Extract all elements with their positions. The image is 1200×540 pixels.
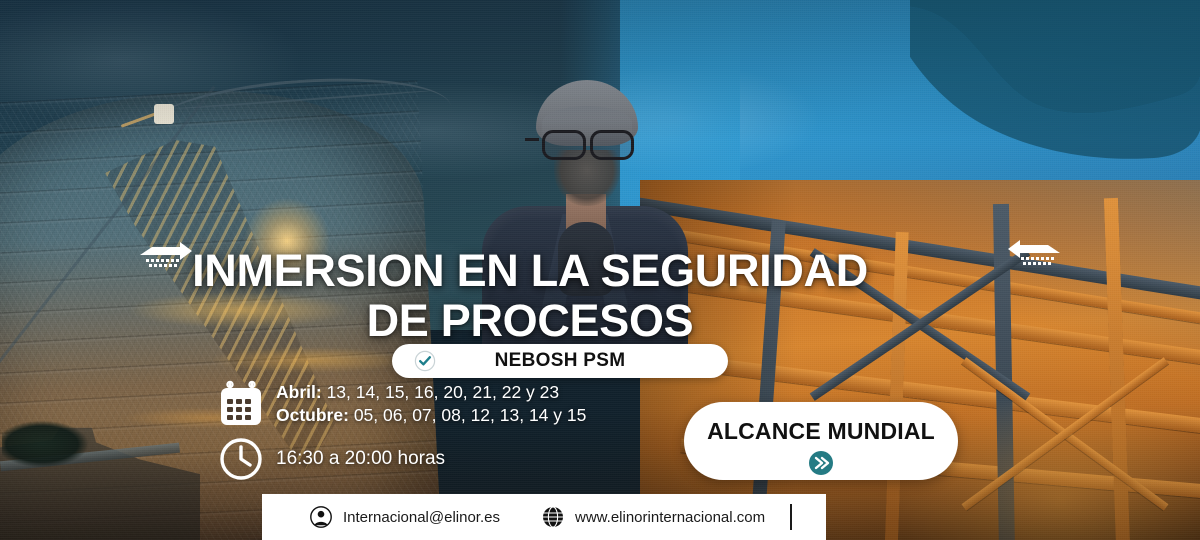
scope-badge[interactable]: ALCANCE MUNDIAL	[684, 402, 958, 480]
scope-badge-label: ALCANCE MUNDIAL	[684, 418, 958, 445]
days-april: 13, 14, 15, 16, 20, 21, 22 y 23	[327, 382, 560, 402]
contact-website-text: www.elinorinternacional.com	[575, 509, 765, 526]
schedule-block: Abril: 13, 14, 15, 16, 20, 21, 22 y 23 O…	[218, 380, 586, 490]
headline-line-2: DE PROCESOS	[180, 296, 880, 346]
double-chevron-right-icon	[808, 450, 834, 476]
contact-email-text: Internacional@elinor.es	[343, 509, 500, 526]
person-icon	[310, 506, 332, 528]
calendar-icon	[218, 380, 264, 428]
banner-content: INMERSION EN LA SEGURIDAD DE PROCESOS NE…	[0, 0, 1200, 540]
check-circle-icon	[414, 350, 436, 372]
dates-line-april: Abril: 13, 14, 15, 16, 20, 21, 22 y 23	[276, 381, 586, 404]
headline-line-1: INMERSION EN LA SEGURIDAD	[192, 245, 868, 296]
days-october: 05, 06, 07, 08, 12, 13, 14 y 15	[354, 405, 587, 425]
dates-text: Abril: 13, 14, 15, 16, 20, 21, 22 y 23 O…	[276, 381, 586, 427]
contact-bar: Internacional@elinor.es www.elinorinte	[262, 494, 826, 540]
month-label-october: Octubre:	[276, 405, 349, 425]
month-label-april: Abril:	[276, 382, 322, 402]
time-text: 16:30 a 20:00 horas	[276, 448, 445, 470]
promo-banner: INMERSION EN LA SEGURIDAD DE PROCESOS NE…	[0, 0, 1200, 540]
course-badge-label: NEBOSH PSM	[436, 350, 684, 372]
globe-icon	[542, 506, 564, 528]
time-row: 16:30 a 20:00 horas	[218, 436, 586, 482]
page-title: INMERSION EN LA SEGURIDAD DE PROCESOS	[180, 246, 880, 346]
course-badge[interactable]: NEBOSH PSM	[392, 344, 728, 378]
dates-row: Abril: 13, 14, 15, 16, 20, 21, 22 y 23 O…	[218, 380, 586, 428]
contact-website[interactable]: www.elinorinternacional.com	[542, 506, 765, 528]
dates-line-october: Octubre: 05, 06, 07, 08, 12, 13, 14 y 15	[276, 404, 586, 427]
contact-divider	[790, 504, 792, 530]
contact-email[interactable]: Internacional@elinor.es	[310, 506, 500, 528]
clock-icon	[218, 436, 264, 482]
